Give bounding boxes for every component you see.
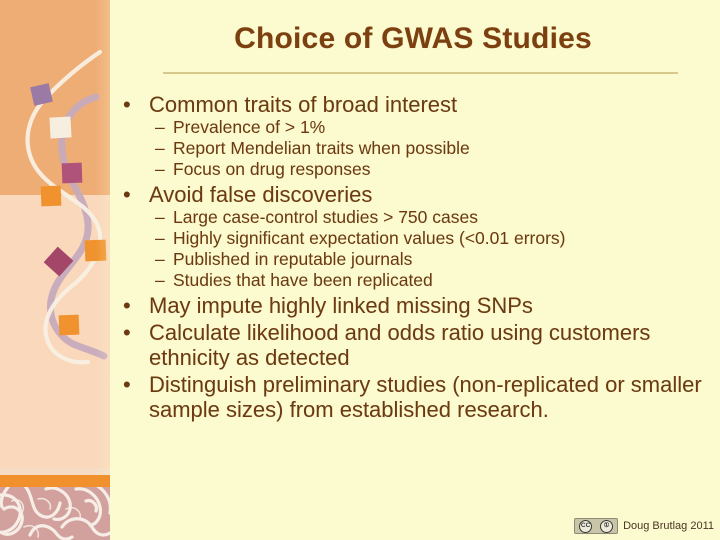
cc-attribution-mark-icon: ①	[600, 520, 613, 533]
sub-bullet-text: Focus on drug responses	[173, 159, 370, 179]
bullet-item: • May impute highly linked missing SNPs	[113, 293, 720, 318]
sub-bullet-item: – Prevalence of > 1%	[113, 117, 720, 138]
decorative-sidebar	[0, 0, 110, 540]
bullet-marker-icon: •	[123, 320, 131, 345]
slide: Choice of GWAS Studies • Common traits o…	[0, 0, 720, 540]
dash-marker-icon: –	[155, 207, 165, 228]
bullet-text: May impute highly linked missing SNPs	[149, 293, 533, 318]
dash-marker-icon: –	[155, 228, 165, 249]
bullet-list: • Common traits of broad interest – Prev…	[113, 90, 720, 422]
dash-marker-icon: –	[155, 138, 165, 159]
fingerprint-pattern	[0, 487, 110, 540]
bullet-marker-icon: •	[123, 293, 131, 318]
sub-bullet-text: Published in reputable journals	[173, 249, 412, 269]
sub-bullet-item: – Studies that have been replicated	[113, 270, 720, 291]
dash-marker-icon: –	[155, 159, 165, 180]
cc-mark-icon: CC	[579, 520, 592, 533]
sub-bullet-text: Report Mendelian traits when possible	[173, 138, 470, 158]
sub-bullet-item: – Published in reputable journals	[113, 249, 720, 270]
bullet-text: Avoid false discoveries	[149, 182, 372, 207]
bullet-item: • Calculate likelihood and odds ratio us…	[113, 320, 720, 370]
footer: CC ① Doug Brutlag 2011	[574, 518, 714, 534]
bullet-marker-icon: •	[123, 182, 131, 207]
decor-square-orange-lower	[59, 315, 80, 336]
bullet-item: • Distinguish preliminary studies (non-r…	[113, 372, 720, 422]
bullet-text: Common traits of broad interest	[149, 92, 457, 117]
bullet-marker-icon: •	[123, 92, 131, 117]
decor-square-orange-upper	[41, 186, 62, 207]
decor-square-cream	[49, 116, 71, 138]
decor-square-magenta	[62, 163, 83, 184]
bullet-item: • Avoid false discoveries	[113, 182, 720, 207]
sub-bullet-item: – Focus on drug responses	[113, 159, 720, 180]
sub-bullet-text: Studies that have been replicated	[173, 270, 433, 290]
bullet-item: • Common traits of broad interest	[113, 92, 720, 117]
sidebar-band-orange	[0, 475, 110, 487]
sub-bullet-text: Prevalence of > 1%	[173, 117, 325, 137]
dash-marker-icon: –	[155, 270, 165, 291]
sub-bullet-item: – Highly significant expectation values …	[113, 228, 720, 249]
sub-bullet-item: – Large case-control studies > 750 cases	[113, 207, 720, 228]
sub-bullet-item: – Report Mendelian traits when possible	[113, 138, 720, 159]
dash-marker-icon: –	[155, 117, 165, 138]
dash-marker-icon: –	[155, 249, 165, 270]
copyright-credit: Doug Brutlag 2011	[623, 520, 714, 532]
bullet-text: Distinguish preliminary studies (non-rep…	[149, 372, 702, 422]
bullet-text: Calculate likelihood and odds ratio usin…	[149, 320, 650, 370]
title-underline	[163, 72, 678, 74]
page-title: Choice of GWAS Studies	[113, 22, 713, 56]
bullet-marker-icon: •	[123, 372, 131, 397]
ribbon-curves	[0, 0, 110, 475]
creative-commons-badge-icon[interactable]: CC ①	[574, 518, 618, 534]
sub-bullet-text: Large case-control studies > 750 cases	[173, 207, 478, 227]
sidebar-edge-fade	[96, 0, 110, 475]
sub-bullet-text: Highly significant expectation values (<…	[173, 228, 566, 248]
